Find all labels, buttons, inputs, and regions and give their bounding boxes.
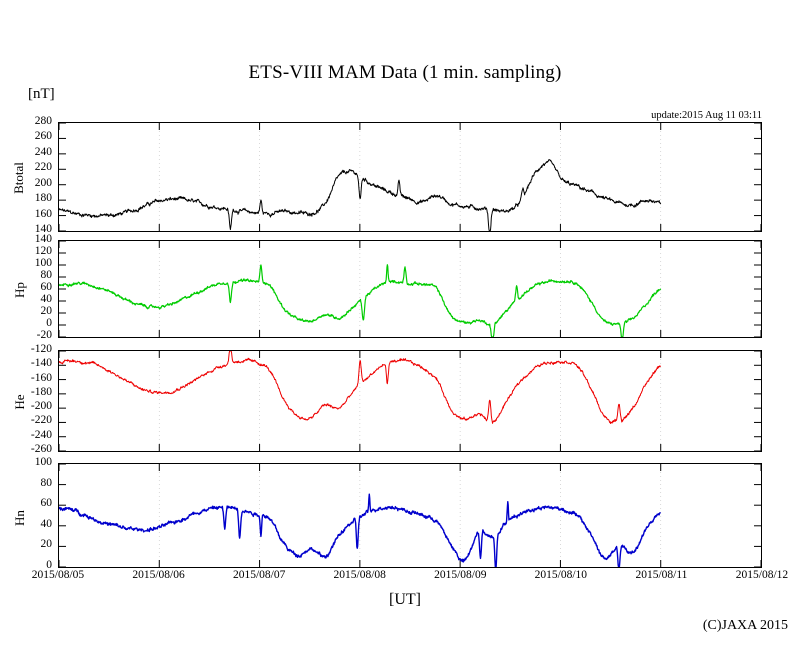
y-tick-label: -180 (0, 387, 52, 399)
y-tick-label: -160 (0, 373, 52, 385)
y-tick-label: -220 (0, 415, 52, 427)
data-trace-btotal (59, 160, 661, 231)
y-tick-label: -120 (0, 344, 52, 356)
y-unit-label: [nT] (28, 86, 55, 103)
y-tick-label: 80 (0, 270, 52, 282)
chart-panel-hp (58, 240, 762, 338)
plot-area-hp (59, 241, 761, 337)
y-tick-label: 60 (0, 498, 52, 510)
y-tick-label: 100 (0, 457, 52, 469)
chart-title: ETS-VIII MAM Data (1 min. sampling) (0, 62, 810, 84)
y-tick-label: 220 (0, 162, 52, 174)
x-tick-label: 2015/08/09 (420, 570, 500, 582)
y-tick-label: -20 (0, 330, 52, 342)
y-tick-label: -240 (0, 430, 52, 442)
x-tick-label: 2015/08/10 (521, 570, 601, 582)
plot-area-he (59, 351, 761, 451)
y-tick-label: -200 (0, 401, 52, 413)
y-tick-label: 20 (0, 539, 52, 551)
chart-panel-btotal (58, 122, 762, 232)
x-tick-label: 2015/08/05 (18, 570, 98, 582)
y-tick-label: 40 (0, 294, 52, 306)
y-tick-label: -260 (0, 444, 52, 456)
x-tick-label: 2015/08/12 (722, 570, 802, 582)
y-tick-label: 100 (0, 258, 52, 270)
chart-panel-he (58, 350, 762, 452)
y-tick-label: 260 (0, 131, 52, 143)
y-tick-label: 240 (0, 147, 52, 159)
y-tick-label: 20 (0, 306, 52, 318)
x-axis-title: [UT] (0, 591, 810, 609)
y-tick-label: 120 (0, 246, 52, 258)
update-timestamp: update:2015 Aug 11 03:11 (651, 110, 762, 121)
y-tick-label: 0 (0, 318, 52, 330)
copyright-notice: (C)JAXA 2015 (703, 618, 788, 634)
x-tick-label: 2015/08/07 (219, 570, 299, 582)
x-tick-label: 2015/08/11 (621, 570, 701, 582)
y-tick-label: 40 (0, 519, 52, 531)
y-tick-label: 80 (0, 478, 52, 490)
y-tick-label: 280 (0, 116, 52, 128)
y-tick-label: 140 (0, 234, 52, 246)
y-tick-label: 200 (0, 178, 52, 190)
x-tick-label: 2015/08/08 (320, 570, 400, 582)
y-tick-label: -140 (0, 358, 52, 370)
y-tick-label: 160 (0, 209, 52, 221)
chart-panel-hn (58, 463, 762, 568)
x-tick-label: 2015/08/06 (119, 570, 199, 582)
y-tick-label: 180 (0, 193, 52, 205)
data-trace-hp (59, 265, 661, 337)
y-tick-label: 60 (0, 282, 52, 294)
plot-area-hn (59, 464, 761, 567)
plot-area-btotal (59, 123, 761, 231)
